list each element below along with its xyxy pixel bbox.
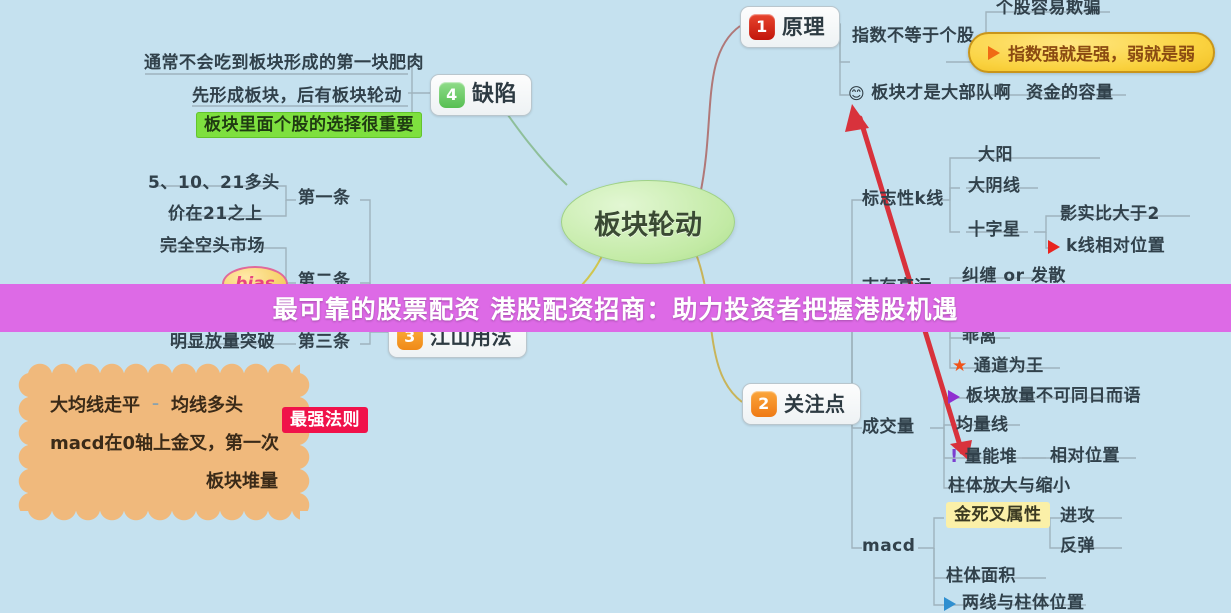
principle-child-index-vs-stock[interactable]: 指数不等于个股 xyxy=(852,28,975,45)
macd-child-cross-attr-label: 金死叉属性 xyxy=(946,502,1050,528)
strongest-row-1: 大均线走平 – 均线多头 xyxy=(50,391,278,417)
kline-child-bigyin[interactable]: 大阴线 xyxy=(968,178,1021,195)
macd-child-rebound[interactable]: 反弹 xyxy=(1060,538,1095,555)
promo-banner: 最可靠的股票配资 港股配资招商：助力投资者把握港股机遇 xyxy=(0,284,1231,332)
kline-child-bigyang[interactable]: 大阳 xyxy=(978,147,1013,164)
promo-banner-text: 最可靠的股票配资 港股配资招商：助力投资者把握港股机遇 xyxy=(273,290,959,326)
defect-child-3-label: 板块里面个股的选择很重要 xyxy=(196,112,422,138)
kline-child-doji[interactable]: 十字星 xyxy=(968,222,1021,239)
principle-child-capacity[interactable]: 资金的容量 xyxy=(1026,85,1114,102)
defect-child-1[interactable]: 通常不会吃到板块形成的第一块肥肉 xyxy=(144,55,424,72)
usage-rule-3-label[interactable]: 第三条 xyxy=(298,334,351,351)
strongest-item-3[interactable]: macd在0轴上金叉，第一次 xyxy=(50,429,279,455)
branch-focus[interactable]: 2 关注点 xyxy=(742,383,861,425)
usage-rule1-item2[interactable]: 价在21之上 xyxy=(168,206,263,223)
kline-child-relative-position-label: k线相对位置 xyxy=(1066,238,1165,255)
ma-child-entangle[interactable]: 纠缠 or 发散 xyxy=(962,268,1066,285)
play-triangle-icon xyxy=(988,46,1000,60)
principle-badge: 1 xyxy=(749,14,775,40)
macd-child-cross-attr[interactable]: 金死叉属性 xyxy=(946,507,1050,524)
usage-rule1-item1[interactable]: 5、10、21多头 xyxy=(148,175,280,192)
volume-child-energy-pile-label: 量能堆 xyxy=(965,449,1018,466)
kline-child-relative-position[interactable]: k线相对位置 xyxy=(1048,238,1165,255)
strongest-rule-badge[interactable]: 最强法则 xyxy=(282,412,368,429)
cloud-edge-bottom xyxy=(28,508,300,522)
smiley-icon: 😊 xyxy=(848,86,865,102)
strongest-item-2[interactable]: 均线多头 xyxy=(171,391,243,417)
volume-child-sector-volume[interactable]: 板块放量不可同日而语 xyxy=(948,388,1141,405)
focus-group-volume[interactable]: 成交量 xyxy=(862,419,915,436)
play-triangle-icon xyxy=(1048,240,1060,254)
cloud-edge-top xyxy=(28,362,300,376)
defect-child-3[interactable]: 板块里面个股的选择很重要 xyxy=(196,117,422,134)
branch-defect[interactable]: 4 缺陷 xyxy=(430,74,532,116)
center-node[interactable]: 板块轮动 xyxy=(561,180,735,264)
principle-child-main-force[interactable]: 😊 板块才是大部队啊 xyxy=(848,85,1011,102)
defect-badge: 4 xyxy=(439,82,465,108)
strongest-rule-cloud: 大均线走平 – 均线多头 macd在0轴上金叉，第一次 板块堆量 xyxy=(28,373,300,511)
principle-child-main-force-label: 板块才是大部队啊 xyxy=(871,85,1011,102)
volume-child-sector-volume-label: 板块放量不可同日而语 xyxy=(966,388,1141,405)
volume-child-avg-volume-line[interactable]: 均量线 xyxy=(956,417,1009,434)
usage-rule-1-label[interactable]: 第一条 xyxy=(298,190,351,207)
macd-child-bar-area[interactable]: 柱体面积 xyxy=(946,568,1016,585)
play-triangle-icon xyxy=(948,390,960,404)
branch-principle[interactable]: 1 原理 xyxy=(740,6,840,48)
mindmap-canvas: 板块轮动 通常不会吃到板块形成的第一块肥肉 先形成板块，后有板块轮动 板块里面个… xyxy=(0,0,1231,612)
macd-child-lines-bar-position-label: 两线与柱体位置 xyxy=(962,595,1085,612)
volume-child-bar-scale[interactable]: 柱体放大与缩小 xyxy=(948,478,1071,495)
principle-child-index-strength-label: 指数强就是强，弱就是弱 xyxy=(1008,40,1195,65)
kline-child-shadow-ratio[interactable]: 影实比大于2 xyxy=(1060,206,1160,223)
star-icon: ★ xyxy=(952,358,968,375)
focus-badge: 2 xyxy=(751,391,777,417)
ma-child-channel-king[interactable]: ★ 通道为王 xyxy=(952,358,1044,375)
focus-group-kline[interactable]: 标志性k线 xyxy=(862,191,944,208)
play-triangle-icon xyxy=(944,597,956,611)
volume-child-relative-position[interactable]: 相对位置 xyxy=(1050,448,1120,465)
focus-label: 关注点 xyxy=(784,394,846,414)
strongest-row-2: macd在0轴上金叉，第一次 xyxy=(50,429,278,455)
exclamation-icon: ! xyxy=(950,448,959,466)
principle-label: 原理 xyxy=(782,17,825,38)
ma-child-channel-king-label: 通道为王 xyxy=(974,358,1044,375)
principle-child-deceive[interactable]: 个股容易欺骗 xyxy=(996,0,1101,17)
strongest-rule-label: 最强法则 xyxy=(282,407,368,433)
volume-child-energy-pile[interactable]: ! 量能堆 xyxy=(950,448,1017,466)
dash-marker: – xyxy=(152,396,159,412)
strongest-row-3: 板块堆量 xyxy=(50,467,278,493)
strongest-item-1[interactable]: 大均线走平 xyxy=(50,391,140,417)
macd-child-attack[interactable]: 进攻 xyxy=(1060,508,1095,525)
usage-rule2-item1[interactable]: 完全空头市场 xyxy=(160,238,265,255)
focus-group-macd[interactable]: macd xyxy=(862,538,915,555)
principle-child-index-strength[interactable]: 指数强就是强，弱就是弱 xyxy=(968,32,1215,73)
strongest-item-4[interactable]: 板块堆量 xyxy=(206,467,278,493)
defect-child-2[interactable]: 先形成板块，后有板块轮动 xyxy=(192,88,402,105)
macd-child-lines-bar-position[interactable]: 两线与柱体位置 xyxy=(944,595,1085,612)
defect-label: 缺陷 xyxy=(472,84,517,106)
usage-rule3-item1[interactable]: 明显放量突破 xyxy=(170,334,275,351)
